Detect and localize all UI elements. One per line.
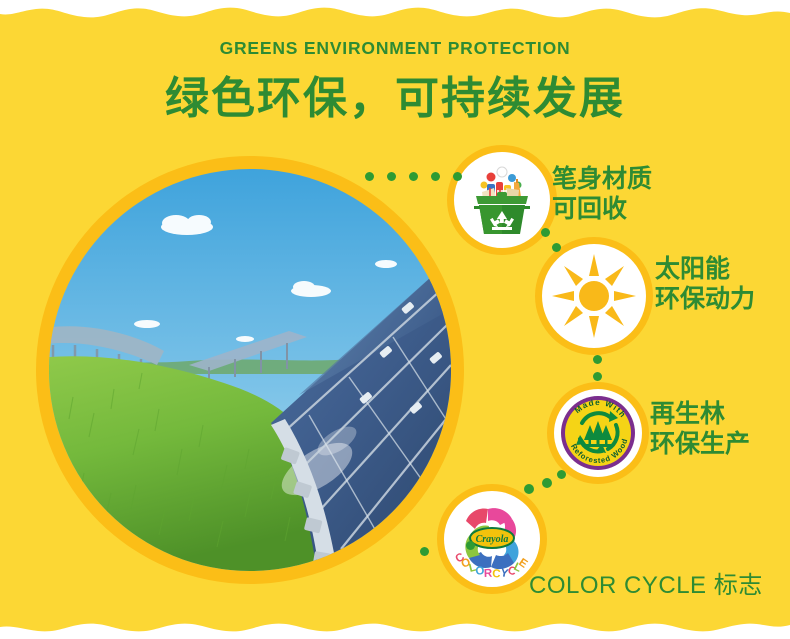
connector-dot [552, 243, 561, 252]
photo-ring [36, 156, 464, 584]
torn-edge-top [0, 0, 790, 26]
feature-label-recycle: 笔身材质 可回收 [552, 165, 652, 224]
solar-panel-field-photo [49, 169, 451, 571]
connector-dot [541, 228, 550, 237]
colorcycle-logo-icon: Crayola C O L O R C Y C L E [444, 491, 540, 587]
feature-circle-sun[interactable] [535, 237, 653, 355]
feature-label-sun: 太阳能 环保动力 [655, 255, 755, 314]
promo-page: GREENS ENVIRONMENT PROTECTION 绿色环保，可持续发展 [0, 0, 790, 639]
torn-edge-bottom [0, 613, 790, 639]
sun-icon [542, 244, 646, 348]
connector-dot [365, 172, 374, 181]
connector-dot [453, 172, 462, 181]
connector-dot [542, 478, 552, 488]
connector-dot [557, 470, 566, 479]
reforested-wood-badge-icon: Made With Reforested Wood [554, 389, 642, 477]
feature-label-wood: 再生林 环保生产 [650, 400, 750, 459]
recycle-bin-icon [454, 152, 550, 248]
connector-dot [593, 355, 602, 364]
page-title-chinese: 绿色环保，可持续发展 [0, 62, 790, 126]
feature-circle-wood[interactable]: Made With Reforested Wood [547, 382, 649, 484]
connector-dot [387, 172, 396, 181]
connector-dot [524, 484, 534, 494]
feature-circle-recycle[interactable] [447, 145, 557, 255]
page-subtitle-english: GREENS ENVIRONMENT PROTECTION [0, 38, 790, 59]
connector-dot [466, 541, 475, 550]
svg-text:Crayola: Crayola [476, 534, 509, 545]
connector-dot [409, 172, 418, 181]
connector-dot [420, 547, 429, 556]
connector-dot [431, 172, 440, 181]
feature-label-colorcycle: COLOR CYCLE 标志 [529, 572, 763, 600]
connector-dot [593, 372, 602, 381]
